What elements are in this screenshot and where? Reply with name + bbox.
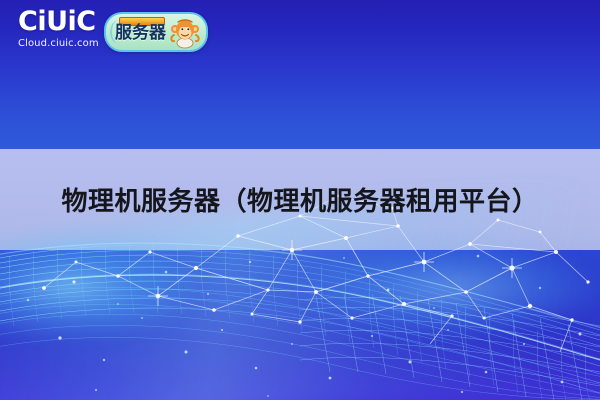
promo-banner: CiUiC Cloud.ciuic.com 服务器 物理机服务器（物理机服务器租… [0, 0, 600, 400]
logo-domain: Cloud.ciuic.com [18, 39, 100, 49]
monkey-mascot-icon [168, 17, 202, 49]
logo-wordmark: CiUiC [18, 8, 100, 35]
glow-left [0, 232, 200, 342]
server-badge[interactable]: 服务器 [104, 12, 208, 52]
badge-label: 服务器 [115, 25, 166, 42]
brand-logo[interactable]: CiUiC Cloud.ciuic.com [18, 8, 100, 49]
page-title: 物理机服务器（物理机服务器租用平台） [0, 188, 600, 217]
glow-mid [300, 244, 600, 334]
